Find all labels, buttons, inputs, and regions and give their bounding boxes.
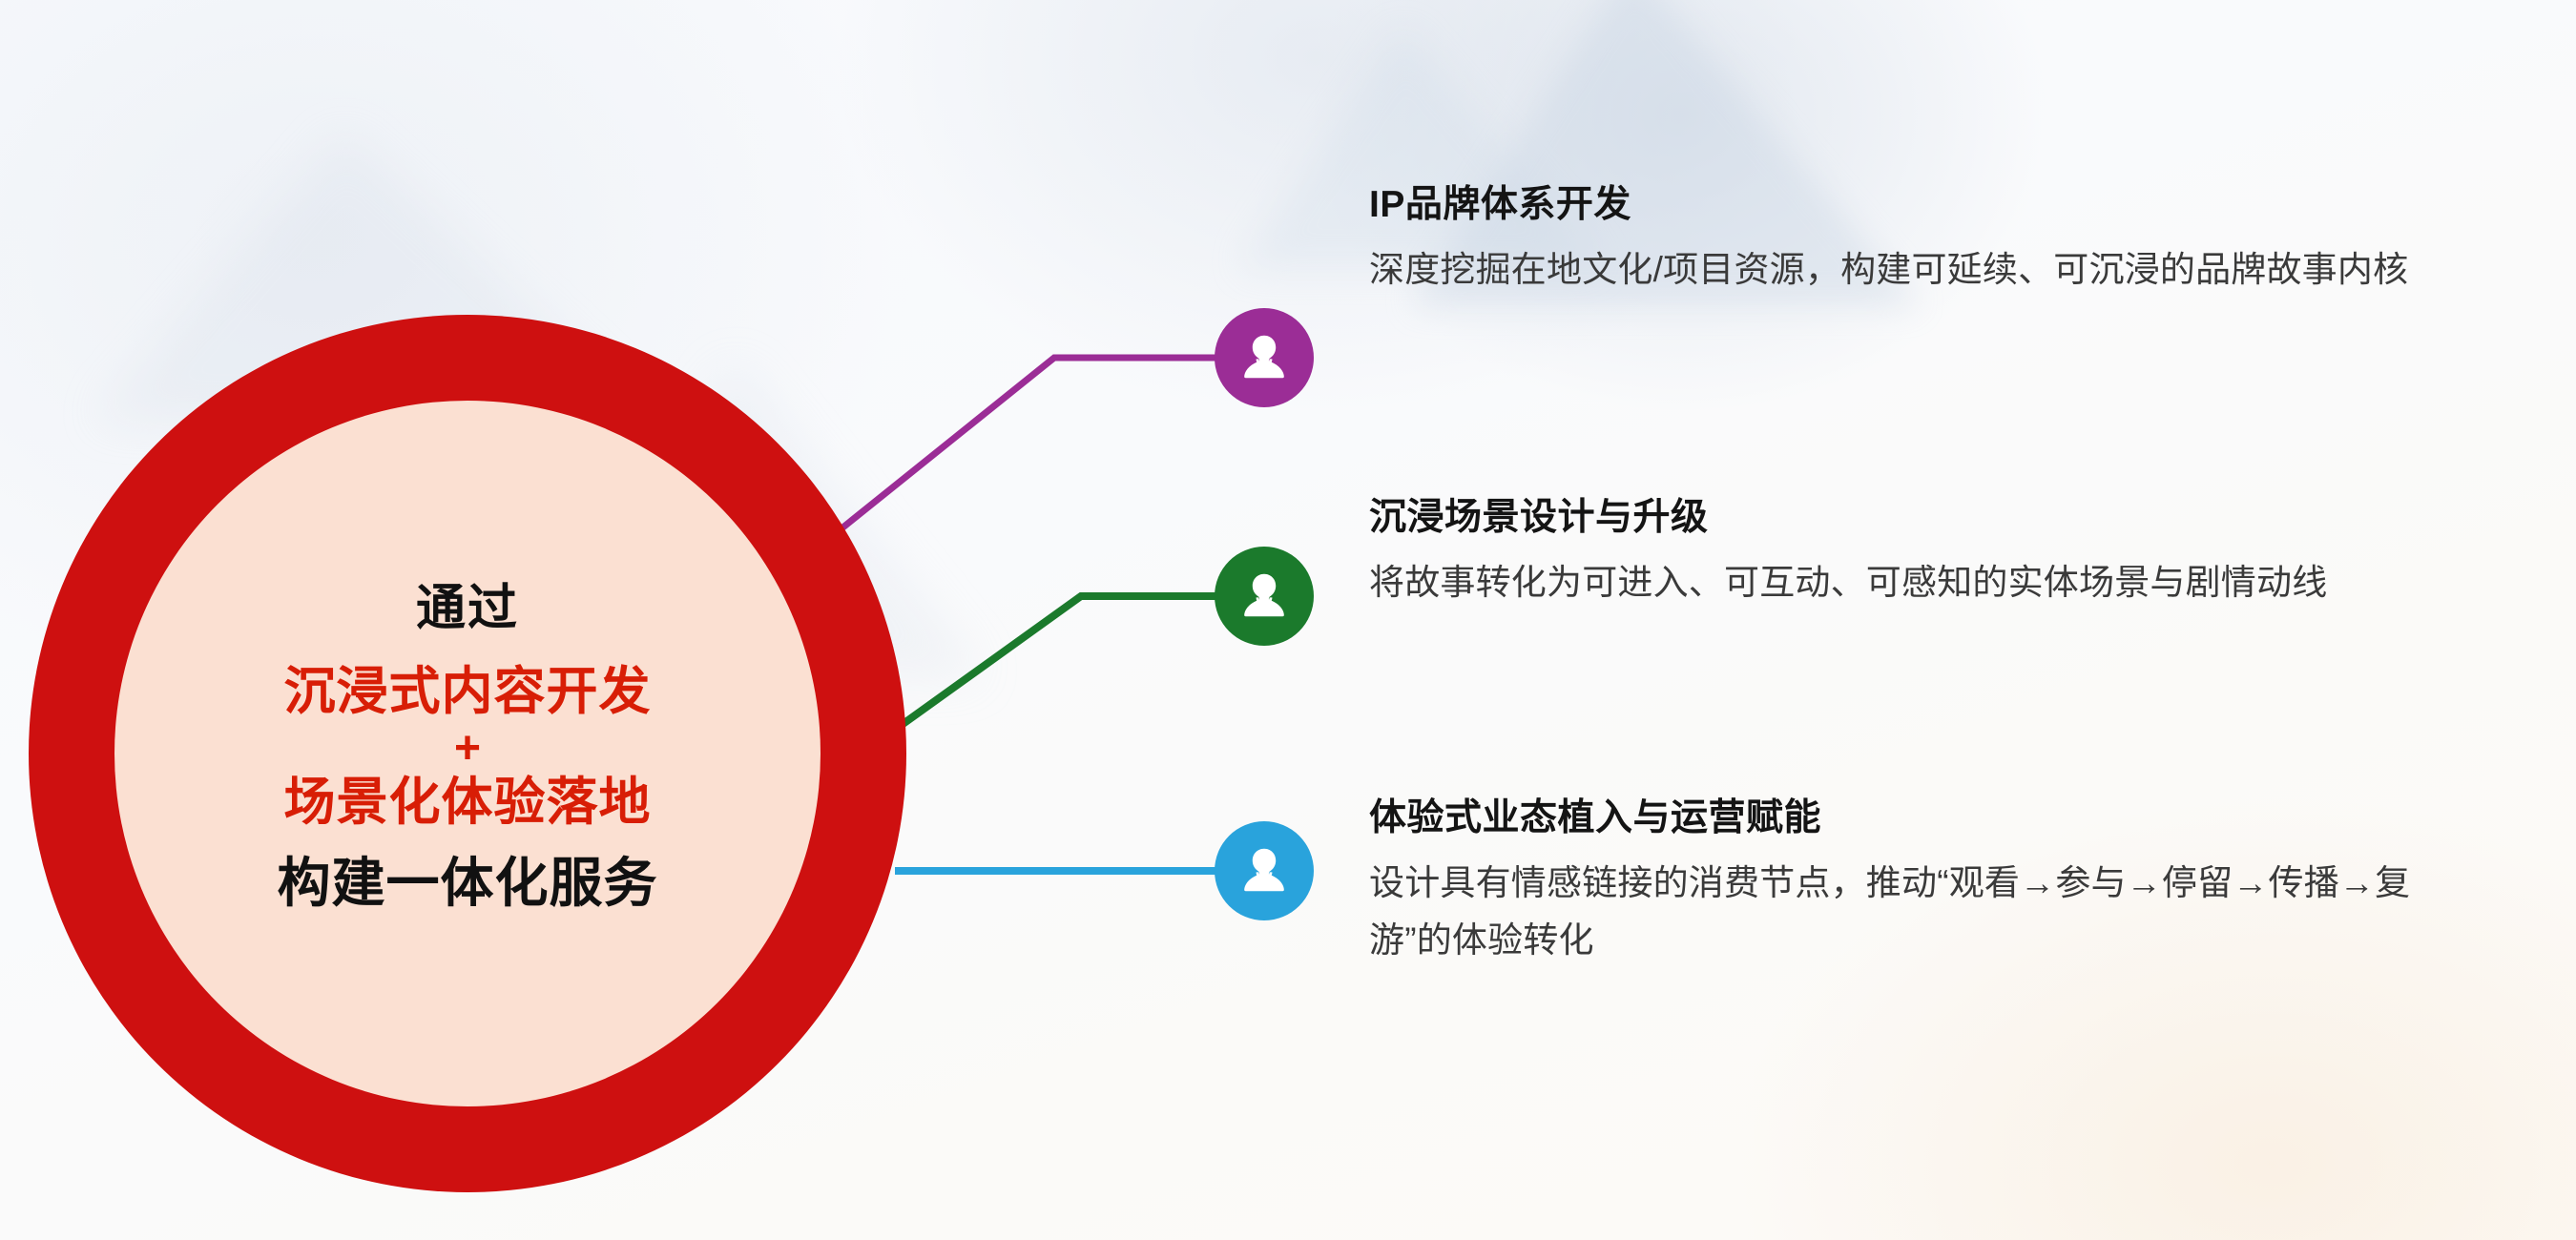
branch-text-3: 体验式业态植入与运营赋能 设计具有情感链接的消费节点，推动“观看→参与→停留→传…	[1369, 796, 2447, 969]
central-hub-text: 通过 沉浸式内容开发 + 场景化体验落地 构建一体化服务	[153, 584, 782, 910]
person-icon	[1235, 841, 1294, 900]
branch-title-1: IP品牌体系开发	[1369, 183, 2447, 228]
person-icon	[1235, 328, 1294, 387]
branch-node-2[interactable]	[1215, 547, 1314, 646]
branch-node-1[interactable]	[1215, 308, 1314, 407]
person-icon	[1235, 567, 1294, 626]
branch-title-2: 沉浸场景设计与升级	[1369, 496, 2447, 541]
branch-text-1: IP品牌体系开发 深度挖掘在地文化/项目资源，构建可延续、可沉浸的品牌故事内核	[1369, 183, 2447, 299]
hub-line-5: 构建一体化服务	[153, 857, 782, 910]
hub-line-4: 场景化体验落地	[153, 776, 782, 828]
branch-desc-2: 将故事转化为可进入、可互动、可感知的实体场景与剧情动线	[1369, 554, 2447, 611]
branch-title-3: 体验式业态植入与运营赋能	[1369, 796, 2447, 841]
central-hub-core: 通过 沉浸式内容开发 + 场景化体验落地 构建一体化服务	[114, 401, 821, 1106]
branch-desc-1: 深度挖掘在地文化/项目资源，构建可延续、可沉浸的品牌故事内核	[1369, 241, 2447, 299]
hub-line-1: 通过	[153, 584, 782, 633]
branch-text-2: 沉浸场景设计与升级 将故事转化为可进入、可互动、可感知的实体场景与剧情动线	[1369, 496, 2447, 611]
hub-line-2: 沉浸式内容开发	[153, 666, 782, 717]
infographic-canvas: 通过 沉浸式内容开发 + 场景化体验落地 构建一体化服务 IP品牌体系开发 深度…	[0, 0, 2576, 1240]
connector-line-2	[902, 596, 1231, 725]
branch-node-3[interactable]	[1215, 821, 1314, 920]
hub-plus-symbol: +	[153, 725, 782, 773]
branch-desc-3: 设计具有情感链接的消费节点，推动“观看→参与→停留→传播→复游”的体验转化	[1369, 855, 2447, 969]
